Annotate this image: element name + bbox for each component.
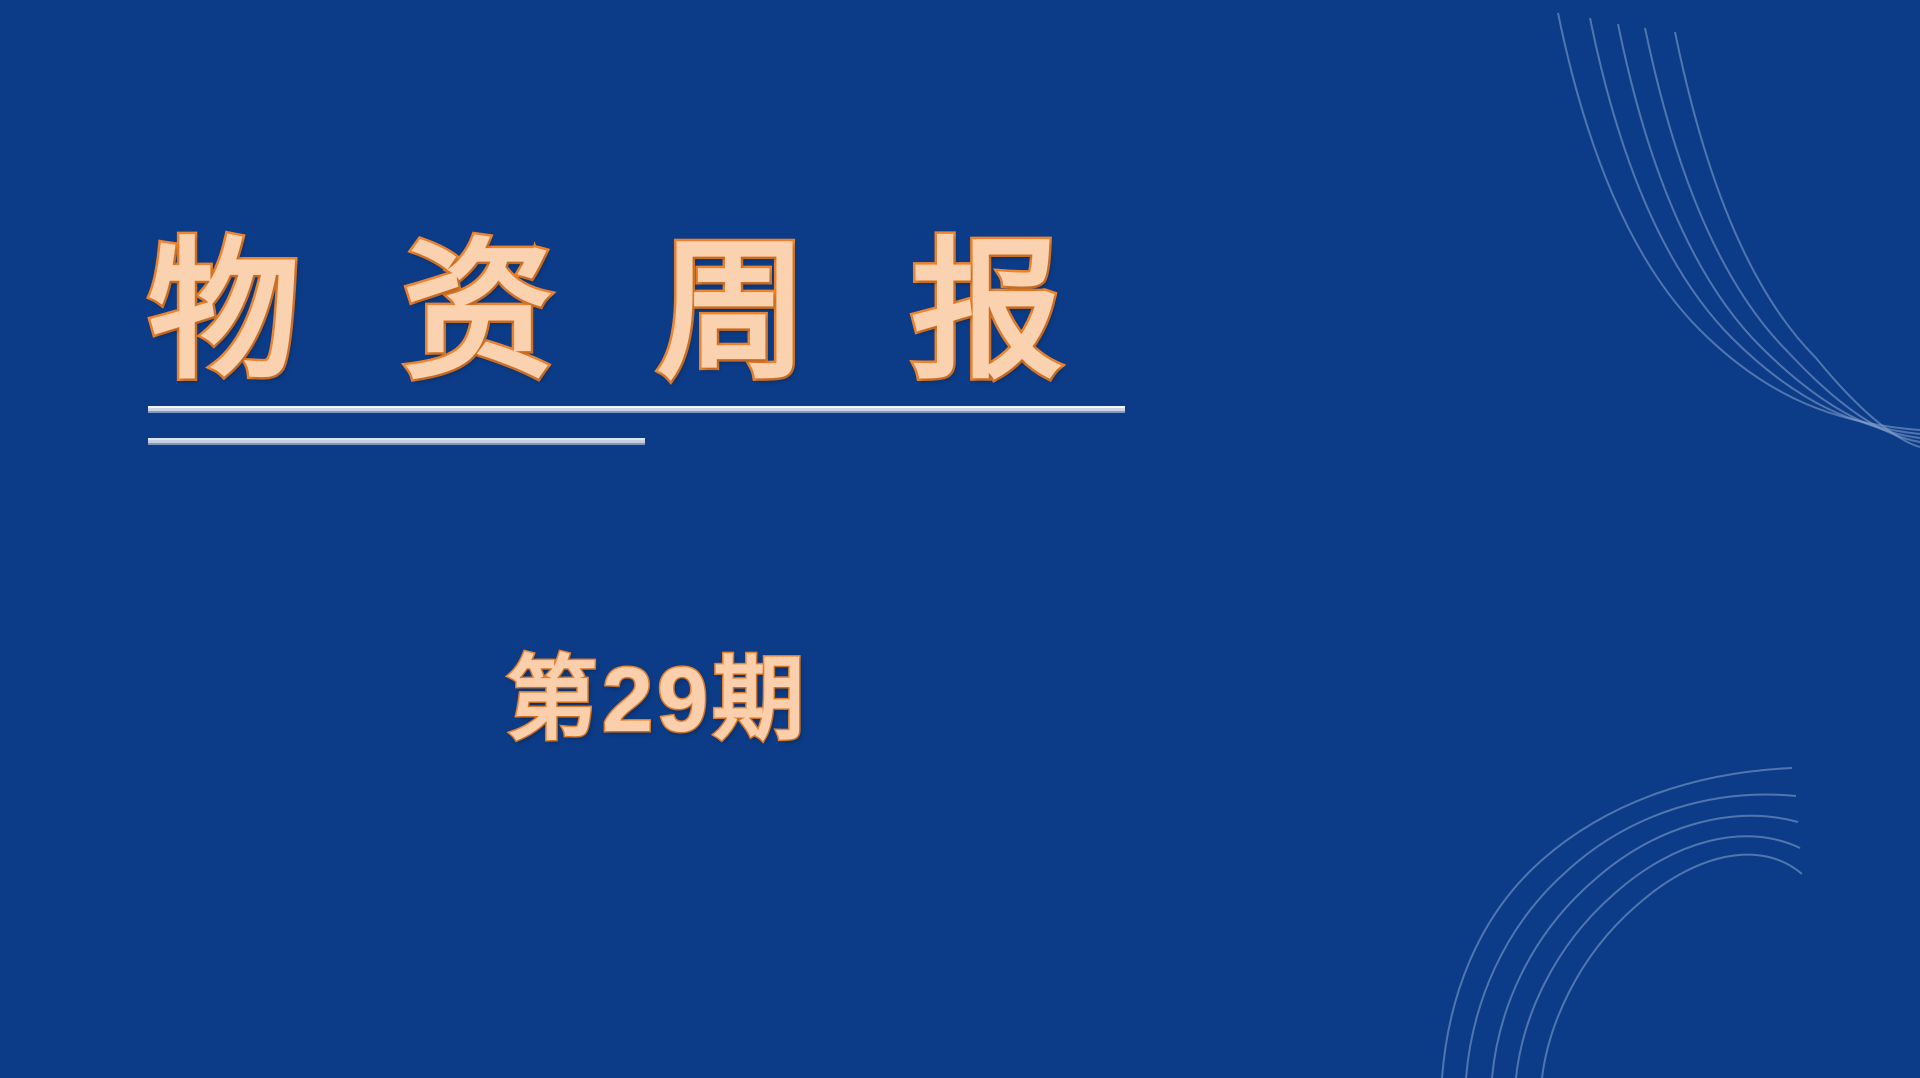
page-title: 物 资 周 报: [148, 236, 1148, 388]
title-underline-primary: [148, 406, 1125, 413]
title-underline-secondary: [148, 438, 645, 445]
curved-lines-top-right-icon: [1280, 0, 1920, 470]
title-block: 物 资 周 报: [148, 236, 1148, 445]
title-underline-group: [148, 406, 1148, 445]
slide-canvas: 物 资 周 报 第29期: [0, 0, 1920, 1078]
curved-lines-bottom-right-icon: [1280, 608, 1920, 1078]
issue-subtitle: 第29期: [506, 648, 808, 754]
